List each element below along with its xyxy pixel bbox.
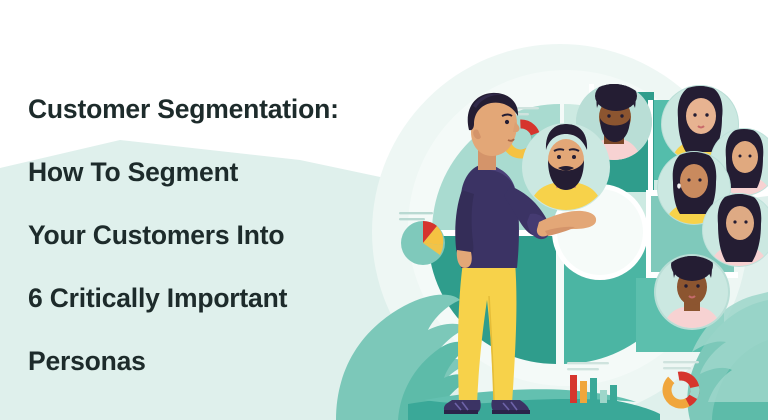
mini-bar-4 <box>600 390 607 403</box>
avatar-face <box>732 141 758 173</box>
page-title-line-5: Personas <box>28 346 388 378</box>
mini-bar-label-1 <box>567 362 609 364</box>
avatar-eye-right <box>696 284 699 287</box>
hero-banner: Customer Segmentation: How To Segment Yo… <box>0 0 768 420</box>
avatar-eye-left <box>557 155 561 159</box>
avatar-eye-right <box>572 155 576 159</box>
avatar-face <box>686 98 716 134</box>
page-title-line-3: Your Customers Into <box>28 220 388 252</box>
mini-bar-1 <box>570 375 577 403</box>
mini-pie-label-line-2 <box>399 218 425 220</box>
avatar-eye-left <box>739 155 742 158</box>
mini-bar-5 <box>610 385 617 403</box>
avatar-face <box>726 206 754 240</box>
presenter-eye <box>505 120 509 124</box>
page-title-line-4: 6 Critically Important <box>28 283 388 315</box>
page-title-line-2: How To Segment <box>28 157 388 189</box>
avatar-eye-right <box>620 114 623 117</box>
avatar-eye-left <box>684 284 687 287</box>
avatar-eye-right <box>744 220 747 223</box>
avatar-eye-right <box>698 178 701 181</box>
mini-pie-label-line-1 <box>399 212 433 214</box>
avatar-eye-left <box>693 113 696 116</box>
presenter-shoe-sole-left <box>444 410 478 414</box>
avatar-earring <box>677 183 681 188</box>
presenter-shoe-sole-right <box>492 410 530 414</box>
avatar-eye-left <box>687 178 690 181</box>
avatar-eye-right <box>705 113 708 116</box>
mini-donut-bottom-label-2 <box>663 367 691 369</box>
avatar-face <box>680 164 708 198</box>
avatar-eye-left <box>733 220 736 223</box>
avatar-eye-right <box>749 155 752 158</box>
page-title-line-1: Customer Segmentation: <box>28 94 388 126</box>
avatar-eye-left <box>607 114 610 117</box>
mini-bar-3 <box>590 378 597 403</box>
mini-bar-label-2 <box>567 368 599 370</box>
mini-bar-2 <box>580 381 587 403</box>
page-title: Customer Segmentation: How To Segment Yo… <box>28 62 388 409</box>
mini-donut-bottom-label-1 <box>663 361 699 363</box>
